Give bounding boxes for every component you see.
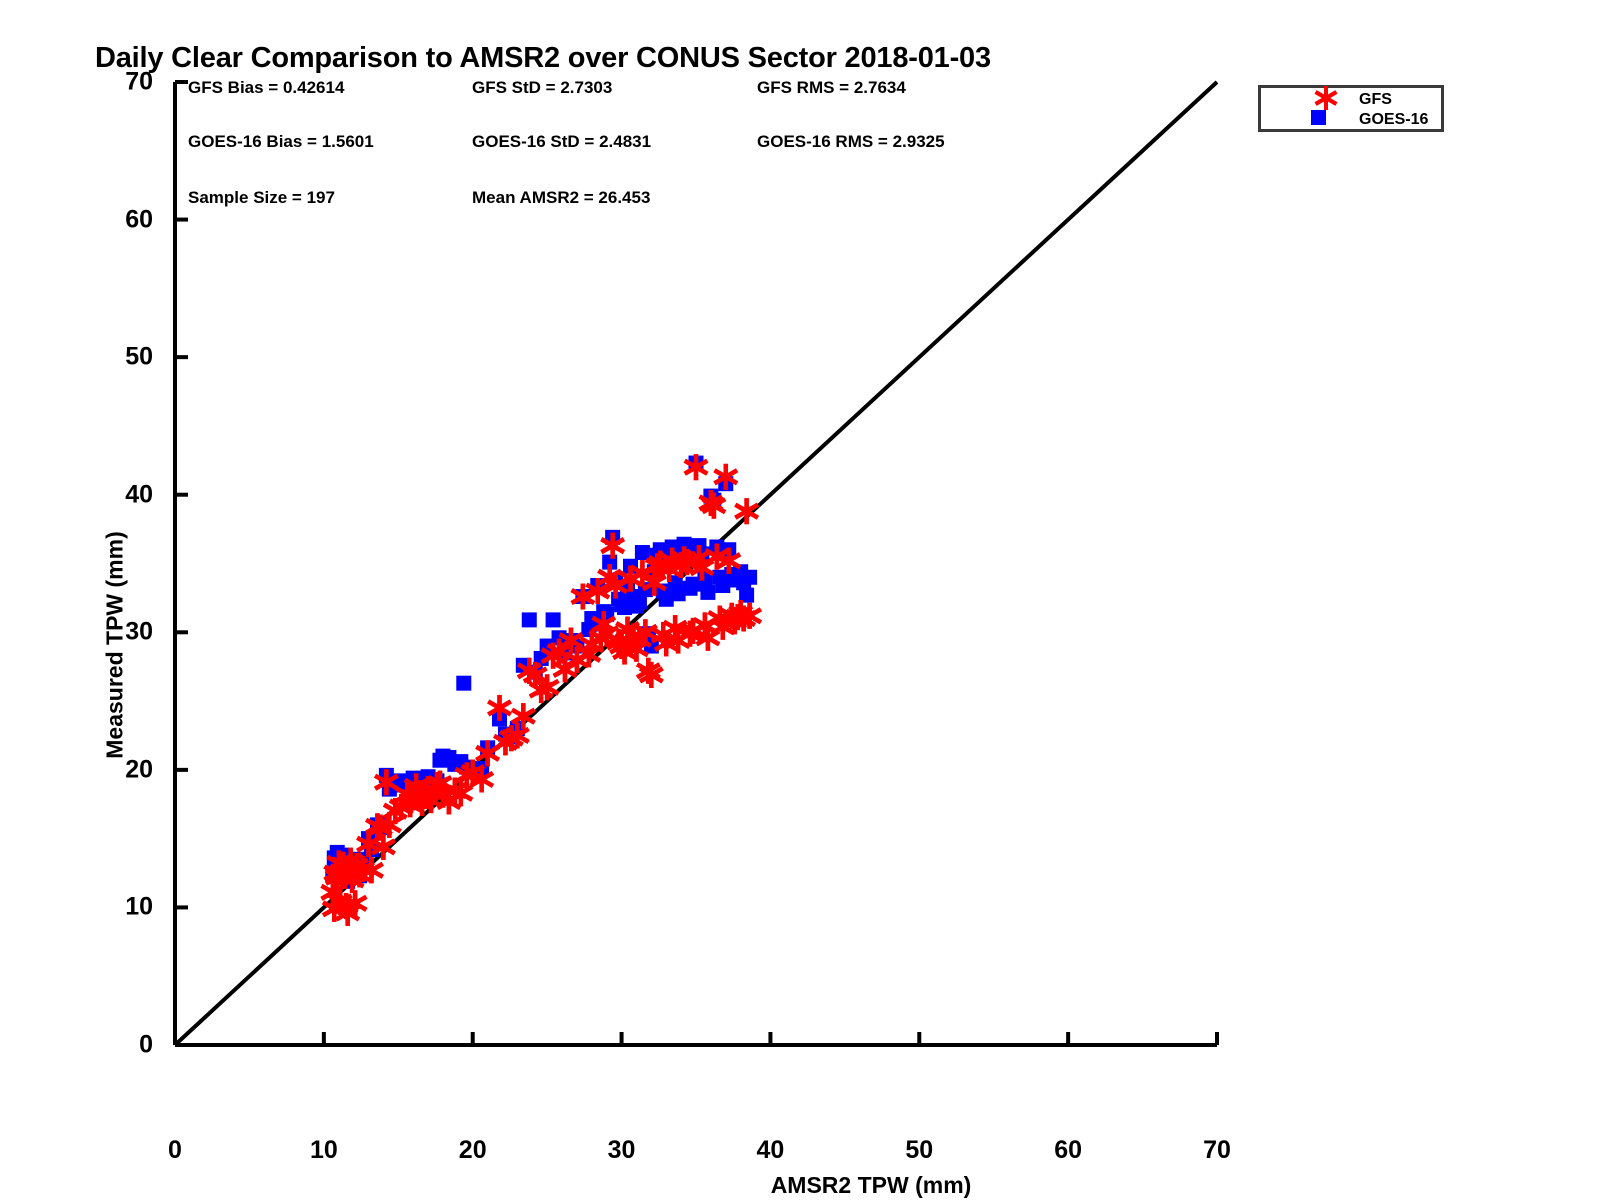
x-tick-60: 60 [1054, 1136, 1082, 1165]
chart-title: Daily Clear Comparison to AMSR2 over CON… [95, 42, 991, 75]
gfs-asterisk-icon [1311, 84, 1341, 112]
data-points [322, 454, 761, 926]
x-tick-10: 10 [310, 1136, 338, 1165]
x-tick-40: 40 [757, 1136, 785, 1165]
y-tick-70: 70 [93, 68, 153, 97]
y-tick-50: 50 [93, 343, 153, 372]
chart-figure: Daily Clear Comparison to AMSR2 over CON… [0, 0, 1600, 1200]
y-tick-0: 0 [93, 1031, 153, 1060]
goes16-square-icon [1311, 110, 1326, 125]
y-tick-40: 40 [93, 480, 153, 509]
x-tick-30: 30 [608, 1136, 636, 1165]
x-tick-50: 50 [905, 1136, 933, 1165]
axes-and-data [175, 82, 1217, 1045]
x-tick-20: 20 [459, 1136, 487, 1165]
legend: GFS GOES-16 [1258, 85, 1444, 132]
y-tick-30: 30 [93, 618, 153, 647]
x-axis-label: AMSR2 TPW (mm) [771, 1172, 972, 1199]
y-tick-10: 10 [93, 893, 153, 922]
y-tick-60: 60 [93, 205, 153, 234]
plot-area: AMSR2 TPW (mm) Measured TPW (mm) 0102030… [175, 82, 1217, 1045]
legend-label-gfs: GFS [1359, 91, 1392, 109]
y-tick-20: 20 [93, 755, 153, 784]
legend-label-goes16: GOES-16 [1359, 111, 1428, 129]
x-tick-70: 70 [1203, 1136, 1231, 1165]
x-tick-0: 0 [168, 1136, 182, 1165]
